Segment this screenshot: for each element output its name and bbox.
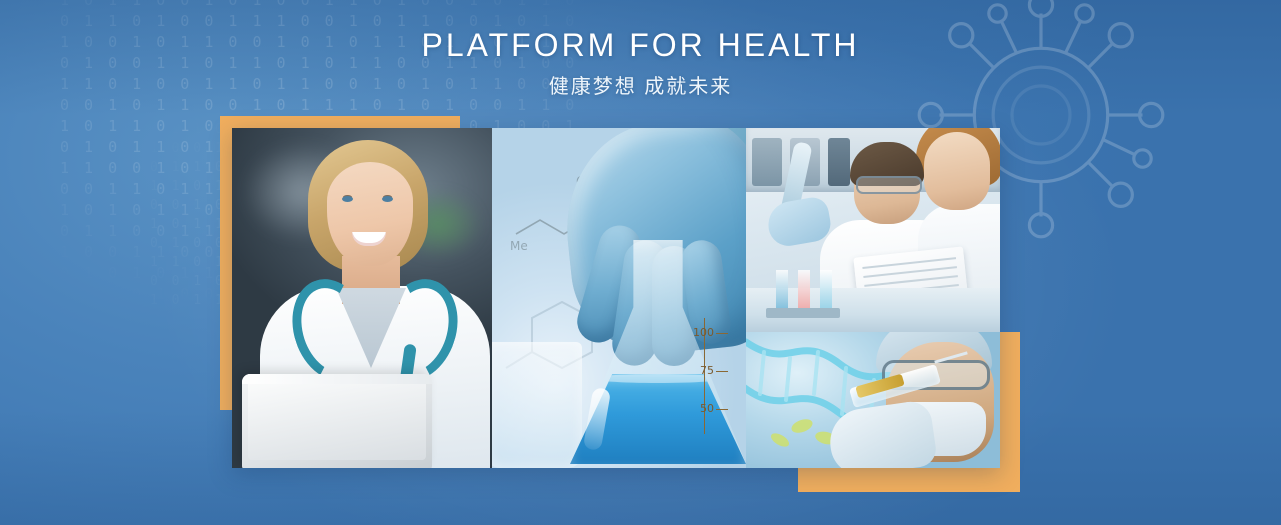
page-title: PLATFORM FOR HEALTH [0, 27, 1281, 64]
background-beaker [492, 342, 582, 468]
flask-scale-label-50: 50 [680, 390, 714, 428]
photo-collage: O OH Me [232, 128, 1000, 468]
photo-gloved-hand-holding-erlenmeyer-flask-with-blue-liquid: O OH Me [492, 128, 746, 468]
photo-two-scientists-in-lab-with-pipette-and-notebook [746, 128, 1000, 332]
page-subtitle: 健康梦想 成就未来 [0, 70, 1281, 99]
scientist-b-face [924, 132, 990, 210]
svg-text:Me: Me [510, 239, 528, 253]
flask-scale-label-100: 100 [680, 314, 714, 352]
photo-researcher-with-syringe-and-dna-helix [746, 332, 1000, 468]
scientist-a-glasses [856, 176, 922, 194]
doctor-eye-right [382, 196, 393, 202]
test-tube-rack [766, 308, 840, 318]
doctor-face [327, 162, 413, 266]
lab-equipment-1 [752, 138, 782, 186]
flask-scale-label-75: 75 [680, 352, 714, 390]
computer-monitor-top-edge [242, 374, 432, 384]
flask-volume-scale: 100 75 50 [680, 314, 714, 428]
health-platform-banner: 1 0 1 1 0 0 1 0 1 0 0 1 1 0 1 0 0 1 0 1 … [0, 0, 1281, 525]
lab-equipment-3 [828, 138, 850, 186]
computer-monitor [242, 374, 432, 468]
photo-smiling-female-doctor-with-stethoscope-at-computer [232, 128, 492, 468]
doctor-eye-left [342, 196, 353, 202]
